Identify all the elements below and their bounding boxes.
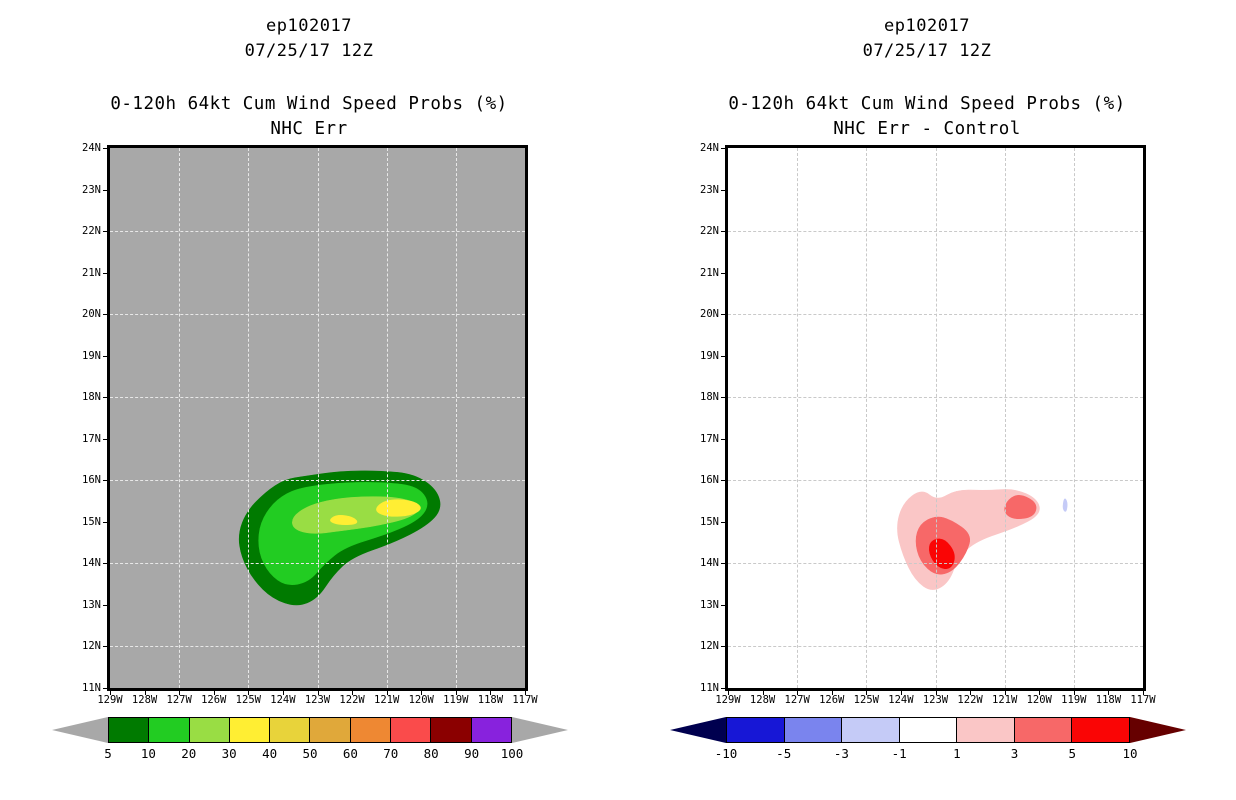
colorbar-swatch [957,718,1015,742]
colorbar-tick-label: 3 [995,748,1035,760]
colorbar-swatch [1015,718,1073,742]
colorbar-tick-label: 1 [937,748,977,760]
y-axis-tick-label: 17N [685,434,719,444]
y-axis-tick-label: 18N [67,392,101,402]
y-axis-tick-mark [103,688,108,689]
colorbar-swatch [785,718,843,742]
x-axis-tick-mark [490,690,491,695]
x-axis-tick-label: 117W [1123,695,1163,705]
left-map-plot[interactable] [107,145,528,691]
x-axis-tick-mark [1143,690,1144,695]
right-colorbar [726,717,1130,743]
y-axis-tick-label: 23N [685,185,719,195]
left-panel-subtitles: 0-120h 64kt Cum Wind Speed Probs (%) NHC… [0,92,618,142]
x-axis-tick-mark [456,690,457,695]
colorbar-tick-label: 5 [1052,748,1092,760]
y-axis-tick-label: 17N [67,434,101,444]
x-axis-tick-mark [797,690,798,695]
colorbar-tick-label: 90 [452,748,492,760]
x-axis-tick-mark [901,690,902,695]
gridline-vertical [318,148,319,688]
x-axis-tick-mark [318,690,319,695]
y-axis-tick-mark [721,314,726,315]
x-axis-tick-mark [728,690,729,695]
y-axis-tick-mark [721,563,726,564]
colorbar-swatch [842,718,900,742]
y-axis-tick-label: 16N [67,475,101,485]
y-axis-tick-mark [103,231,108,232]
y-axis-tick-mark [103,356,108,357]
colorbar-swatch [351,718,391,742]
y-axis-tick-mark [103,314,108,315]
y-axis-tick-mark [721,522,726,523]
left-product-title: 0-120h 64kt Cum Wind Speed Probs (%) [0,92,618,117]
y-axis-tick-mark [721,439,726,440]
y-axis-tick-label: 12N [685,641,719,651]
colorbar-swatch [149,718,189,742]
x-axis-tick-label: 117W [505,695,545,705]
contour-region-level--1 [1063,499,1067,512]
colorbar-tick-label: 5 [88,748,128,760]
y-axis-tick-mark [721,646,726,647]
y-axis-tick-mark [103,397,108,398]
colorbar-tick-label: -3 [821,748,861,760]
x-axis-tick-mark [525,690,526,695]
colorbar-tick-label: -1 [879,748,919,760]
right-panel-subtitles: 0-120h 64kt Cum Wind Speed Probs (%) NHC… [618,92,1236,142]
gridline-vertical [1074,148,1075,688]
colorbar-swatch [190,718,230,742]
colorbar-swatch [1072,718,1129,742]
x-axis-tick-mark [248,690,249,695]
x-axis-tick-mark [352,690,353,695]
gridline-vertical [797,148,798,688]
x-axis-tick-mark [214,690,215,695]
left-colorbar-low-arrow [52,717,108,743]
x-axis-tick-mark [283,690,284,695]
right-colorbar-high-arrow [1130,717,1186,743]
colorbar-tick-label: 30 [209,748,249,760]
y-axis-tick-label: 11N [67,683,101,693]
gridline-vertical [456,148,457,688]
colorbar-swatch [109,718,149,742]
y-axis-tick-mark [103,273,108,274]
x-axis-tick-mark [179,690,180,695]
left-colorbar-high-arrow [512,717,568,743]
colorbar-swatch [310,718,350,742]
right-product-title: 0-120h 64kt Cum Wind Speed Probs (%) [618,92,1236,117]
colorbar-tick-label: 70 [371,748,411,760]
y-axis-tick-mark [103,148,108,149]
x-axis-tick-mark [763,690,764,695]
colorbar-tick-label: -5 [764,748,804,760]
x-axis-tick-mark [1074,690,1075,695]
left-panel-titles: ep102017 07/25/17 12Z [0,14,618,64]
x-axis-tick-mark [936,690,937,695]
gridline-vertical [387,148,388,688]
y-axis-tick-label: 13N [685,600,719,610]
colorbar-tick-label: 60 [330,748,370,760]
y-axis-tick-label: 19N [67,351,101,361]
y-axis-tick-label: 13N [67,600,101,610]
right-storm-id: ep102017 [618,14,1236,39]
y-axis-tick-mark [721,148,726,149]
colorbar-swatch [727,718,785,742]
panel-nhc-err: ep102017 07/25/17 12Z 0-120h 64kt Cum Wi… [0,0,618,800]
colorbar-tick-label: 100 [492,748,532,760]
colorbar-swatch [900,718,958,742]
y-axis-tick-label: 14N [67,558,101,568]
y-axis-tick-label: 24N [67,143,101,153]
y-axis-tick-label: 19N [685,351,719,361]
x-axis-tick-mark [1039,690,1040,695]
colorbar-swatch [230,718,270,742]
x-axis-tick-mark [970,690,971,695]
left-storm-id: ep102017 [0,14,618,39]
colorbar-tick-label: 50 [290,748,330,760]
colorbar-swatch [431,718,471,742]
x-axis-tick-mark [1005,690,1006,695]
y-axis-tick-mark [103,646,108,647]
y-axis-tick-mark [103,190,108,191]
y-axis-tick-mark [103,605,108,606]
gridline-vertical [866,148,867,688]
y-axis-tick-mark [721,480,726,481]
colorbar-tick-label: -10 [706,748,746,760]
y-axis-tick-mark [721,356,726,357]
x-axis-tick-mark [145,690,146,695]
colorbar-tick-label: 40 [250,748,290,760]
left-subtitle: NHC Err [0,117,618,142]
right-datetime: 07/25/17 12Z [618,39,1236,64]
contour-region-level-30 [376,500,420,517]
y-axis-tick-mark [103,563,108,564]
gridline-vertical [1005,148,1006,688]
panel-nhc-err-minus-control: ep102017 07/25/17 12Z 0-120h 64kt Cum Wi… [618,0,1236,800]
y-axis-tick-label: 21N [67,268,101,278]
colorbar-swatch [472,718,511,742]
gridline-vertical [936,148,937,688]
y-axis-tick-mark [103,522,108,523]
y-axis-tick-label: 16N [685,475,719,485]
x-axis-tick-mark [832,690,833,695]
y-axis-tick-label: 24N [685,143,719,153]
gridline-vertical [248,148,249,688]
x-axis-tick-mark [866,690,867,695]
y-axis-tick-mark [721,605,726,606]
x-axis-tick-mark [387,690,388,695]
right-subtitle: NHC Err - Control [618,117,1236,142]
y-axis-tick-label: 20N [67,309,101,319]
y-axis-tick-label: 23N [67,185,101,195]
y-axis-tick-mark [721,231,726,232]
y-axis-tick-mark [721,688,726,689]
left-datetime: 07/25/17 12Z [0,39,618,64]
y-axis-tick-label: 15N [67,517,101,527]
colorbar-swatch [270,718,310,742]
y-axis-tick-label: 20N [685,309,719,319]
y-axis-tick-mark [103,480,108,481]
right-panel-titles: ep102017 07/25/17 12Z [618,14,1236,64]
right-colorbar-low-arrow [670,717,726,743]
y-axis-tick-label: 21N [685,268,719,278]
colorbar-tick-label: 10 [128,748,168,760]
x-axis-tick-mark [421,690,422,695]
x-axis-tick-mark [110,690,111,695]
y-axis-tick-label: 14N [685,558,719,568]
colorbar-tick-label: 10 [1110,748,1150,760]
colorbar-swatch [391,718,431,742]
x-axis-tick-mark [1108,690,1109,695]
y-axis-tick-label: 22N [685,226,719,236]
y-axis-tick-mark [721,397,726,398]
left-colorbar [108,717,512,743]
y-axis-tick-label: 15N [685,517,719,527]
y-axis-tick-label: 12N [67,641,101,651]
y-axis-tick-label: 22N [67,226,101,236]
y-axis-tick-mark [721,273,726,274]
y-axis-tick-mark [103,439,108,440]
y-axis-tick-label: 18N [685,392,719,402]
right-map-plot[interactable] [725,145,1146,691]
colorbar-tick-label: 80 [411,748,451,760]
gridline-vertical [179,148,180,688]
y-axis-tick-mark [721,190,726,191]
y-axis-tick-label: 11N [685,683,719,693]
colorbar-tick-label: 20 [169,748,209,760]
